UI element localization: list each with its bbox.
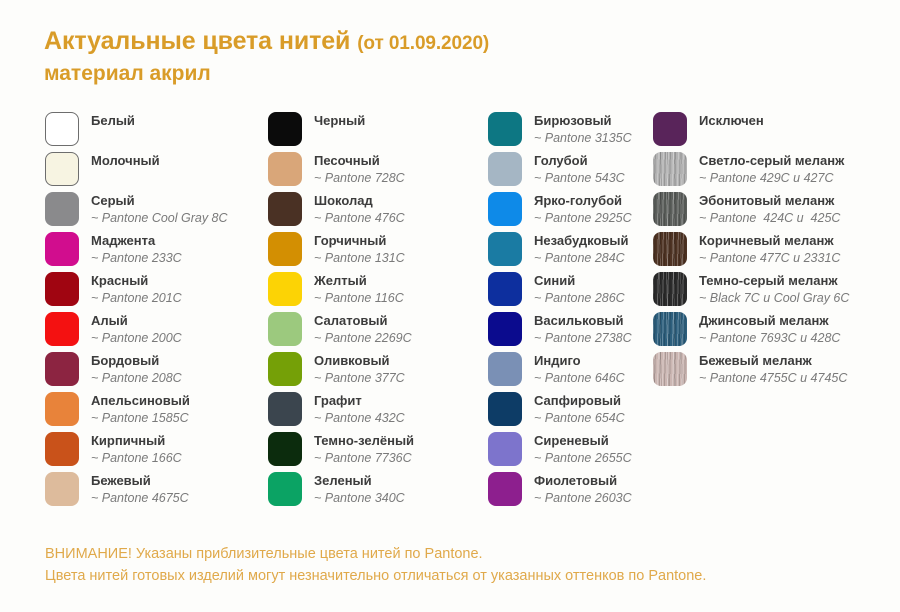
- color-row: Темно-серый меланж~ Black 7C и Cool Gray…: [653, 272, 893, 312]
- color-pantone-code: ~ Pantone 1585C: [91, 410, 190, 426]
- color-name: Красный: [91, 273, 182, 289]
- color-swatch: [268, 152, 302, 186]
- page-header: Актуальные цвета нитей (от 01.09.2020) м…: [44, 26, 864, 87]
- color-swatch: [653, 112, 687, 146]
- page-title: Актуальные цвета нитей (от 01.09.2020): [44, 26, 864, 59]
- color-name: Ярко-голубой: [534, 193, 632, 209]
- color-name: Темно-серый меланж: [699, 273, 849, 289]
- color-labels: Васильковый~ Pantone 2738C: [534, 312, 632, 346]
- color-name: Сапфировый: [534, 393, 625, 409]
- color-column-1: БелыйМолочныйСерый~ Pantone Cool Gray 8C…: [45, 112, 270, 512]
- color-swatch: [45, 272, 79, 306]
- color-labels: Исключен: [699, 112, 764, 129]
- color-swatch: [653, 352, 687, 386]
- color-pantone-code: ~ Pantone 4675C: [91, 490, 189, 506]
- color-swatch: [653, 232, 687, 266]
- color-row: Зеленый~ Pantone 340C: [268, 472, 490, 512]
- color-labels: Ярко-голубой~ Pantone 2925C: [534, 192, 632, 226]
- color-labels: Шоколад~ Pantone 476C: [314, 192, 405, 226]
- color-swatch: [268, 272, 302, 306]
- color-name: Васильковый: [534, 313, 632, 329]
- color-row: Красный~ Pantone 201C: [45, 272, 270, 312]
- color-row: Маджента~ Pantone 233C: [45, 232, 270, 272]
- color-name: Желтый: [314, 273, 404, 289]
- color-column-4: ИсключенСветло-серый меланж~ Pantone 429…: [653, 112, 893, 392]
- color-pantone-code: ~ Pantone 208C: [91, 370, 182, 386]
- color-pantone-code: ~ Pantone 4755C и 4745C: [699, 370, 847, 386]
- color-name: Серый: [91, 193, 228, 209]
- color-name: Сиреневый: [534, 433, 632, 449]
- color-labels: Песочный~ Pantone 728C: [314, 152, 405, 186]
- color-chart-page: Актуальные цвета нитей (от 01.09.2020) м…: [0, 0, 900, 612]
- color-labels: Алый~ Pantone 200C: [91, 312, 182, 346]
- color-columns: БелыйМолочныйСерый~ Pantone Cool Gray 8C…: [0, 112, 900, 532]
- color-swatch: [488, 112, 522, 146]
- color-name: Бежевый меланж: [699, 353, 847, 369]
- color-name: Коричневый меланж: [699, 233, 840, 249]
- color-swatch: [488, 312, 522, 346]
- color-pantone-code: ~ Pantone 477C и 2331C: [699, 250, 840, 266]
- color-labels: Джинсовый меланж~ Pantone 7693C и 428C: [699, 312, 840, 346]
- color-row: Светло-серый меланж~ Pantone 429C и 427C: [653, 152, 893, 192]
- color-row: Эбонитовый меланж~ Pantone 424C и 425C: [653, 192, 893, 232]
- color-pantone-code: ~ Pantone 7693C и 428C: [699, 330, 840, 346]
- color-name: Шоколад: [314, 193, 405, 209]
- color-name: Бирюзовый: [534, 113, 632, 129]
- color-labels: Апельсиновый~ Pantone 1585C: [91, 392, 190, 426]
- color-row: Джинсовый меланж~ Pantone 7693C и 428C: [653, 312, 893, 352]
- color-swatch: [45, 112, 79, 146]
- color-name: Оливковый: [314, 353, 405, 369]
- color-pantone-code: ~ Pantone 7736C: [314, 450, 414, 466]
- disclaimer-line-2: Цвета нитей готовых изделий могут незнач…: [45, 565, 865, 587]
- color-labels: Синий~ Pantone 286C: [534, 272, 625, 306]
- color-pantone-code: ~ Pantone 654C: [534, 410, 625, 426]
- color-labels: Белый: [91, 112, 135, 129]
- color-row: Серый~ Pantone Cool Gray 8C: [45, 192, 270, 232]
- color-row: Синий~ Pantone 286C: [488, 272, 658, 312]
- color-row: Индиго~ Pantone 646C: [488, 352, 658, 392]
- color-pantone-code: ~ Pantone 424C и 425C: [699, 210, 840, 226]
- color-labels: Сиреневый~ Pantone 2655C: [534, 432, 632, 466]
- color-swatch: [45, 392, 79, 426]
- color-swatch: [45, 352, 79, 386]
- color-pantone-code: ~ Pantone 166C: [91, 450, 182, 466]
- color-labels: Темно-серый меланж~ Black 7C и Cool Gray…: [699, 272, 849, 306]
- color-labels: Графит~ Pantone 432C: [314, 392, 405, 426]
- color-pantone-code: ~ Pantone 2603C: [534, 490, 632, 506]
- color-row: Желтый~ Pantone 116C: [268, 272, 490, 312]
- color-row: Голубой~ Pantone 543C: [488, 152, 658, 192]
- color-row: Ярко-голубой~ Pantone 2925C: [488, 192, 658, 232]
- color-name: Бежевый: [91, 473, 189, 489]
- color-row: Графит~ Pantone 432C: [268, 392, 490, 432]
- color-labels: Бирюзовый~ Pantone 3135C: [534, 112, 632, 146]
- color-row: Шоколад~ Pantone 476C: [268, 192, 490, 232]
- page-title-main: Актуальные цвета нитей: [44, 27, 350, 55]
- color-pantone-code: ~ Pantone 340C: [314, 490, 405, 506]
- color-row: Оливковый~ Pantone 377C: [268, 352, 490, 392]
- color-swatch: [488, 472, 522, 506]
- color-pantone-code: ~ Pantone 3135C: [534, 130, 632, 146]
- disclaimer-note: ВНИМАНИЕ! Указаны приблизительные цвета …: [45, 543, 865, 587]
- color-labels: Серый~ Pantone Cool Gray 8C: [91, 192, 228, 226]
- color-labels: Коричневый меланж~ Pantone 477C и 2331C: [699, 232, 840, 266]
- color-pantone-code: ~ Pantone 432C: [314, 410, 405, 426]
- color-labels: Бордовый~ Pantone 208C: [91, 352, 182, 386]
- color-pantone-code: ~ Pantone 201C: [91, 290, 182, 306]
- color-row: Незабудковый~ Pantone 284C: [488, 232, 658, 272]
- color-row: Васильковый~ Pantone 2738C: [488, 312, 658, 352]
- color-swatch: [488, 352, 522, 386]
- color-column-2: ЧерныйПесочный~ Pantone 728CШоколад~ Pan…: [268, 112, 490, 512]
- color-name: Исключен: [699, 113, 764, 129]
- color-row: Бордовый~ Pantone 208C: [45, 352, 270, 392]
- color-pantone-code: ~ Pantone 2925C: [534, 210, 632, 226]
- color-row: Коричневый меланж~ Pantone 477C и 2331C: [653, 232, 893, 272]
- color-pantone-code: ~ Pantone 284C: [534, 250, 629, 266]
- color-labels: Бежевый меланж~ Pantone 4755C и 4745C: [699, 352, 847, 386]
- color-name: Темно-зелёный: [314, 433, 414, 449]
- color-swatch: [268, 112, 302, 146]
- color-labels: Молочный: [91, 152, 160, 169]
- color-name: Маджента: [91, 233, 182, 249]
- color-pantone-code: ~ Pantone 646C: [534, 370, 625, 386]
- color-name: Бордовый: [91, 353, 182, 369]
- color-swatch: [488, 272, 522, 306]
- color-row: Горчичный~ Pantone 131C: [268, 232, 490, 272]
- color-swatch: [653, 192, 687, 226]
- color-labels: Черный: [314, 112, 365, 129]
- color-labels: Индиго~ Pantone 646C: [534, 352, 625, 386]
- color-swatch: [268, 432, 302, 466]
- color-name: Индиго: [534, 353, 625, 369]
- color-swatch: [268, 352, 302, 386]
- color-row: Салатовый~ Pantone 2269C: [268, 312, 490, 352]
- color-name: Белый: [91, 113, 135, 129]
- color-swatch: [488, 432, 522, 466]
- color-pantone-code: ~ Pantone 200C: [91, 330, 182, 346]
- color-name: Апельсиновый: [91, 393, 190, 409]
- color-labels: Темно-зелёный~ Pantone 7736C: [314, 432, 414, 466]
- color-pantone-code: ~ Pantone 286C: [534, 290, 625, 306]
- color-swatch: [488, 192, 522, 226]
- color-pantone-code: ~ Pantone 131C: [314, 250, 405, 266]
- color-pantone-code: ~ Pantone 2738C: [534, 330, 632, 346]
- color-labels: Эбонитовый меланж~ Pantone 424C и 425C: [699, 192, 840, 226]
- page-title-date: (от 01.09.2020): [357, 33, 489, 54]
- color-swatch: [268, 232, 302, 266]
- color-labels: Горчичный~ Pantone 131C: [314, 232, 405, 266]
- color-row: Песочный~ Pantone 728C: [268, 152, 490, 192]
- color-swatch: [45, 312, 79, 346]
- color-labels: Бежевый~ Pantone 4675C: [91, 472, 189, 506]
- color-labels: Кирпичный~ Pantone 166C: [91, 432, 182, 466]
- color-row: Бежевый~ Pantone 4675C: [45, 472, 270, 512]
- color-name: Песочный: [314, 153, 405, 169]
- color-name: Эбонитовый меланж: [699, 193, 840, 209]
- color-swatch: [45, 152, 79, 186]
- color-row: Молочный: [45, 152, 270, 192]
- color-name: Молочный: [91, 153, 160, 169]
- color-row: Белый: [45, 112, 270, 152]
- color-name: Зеленый: [314, 473, 405, 489]
- color-labels: Оливковый~ Pantone 377C: [314, 352, 405, 386]
- color-name: Горчичный: [314, 233, 405, 249]
- color-swatch: [653, 152, 687, 186]
- color-name: Синий: [534, 273, 625, 289]
- color-swatch: [45, 472, 79, 506]
- color-name: Голубой: [534, 153, 625, 169]
- color-swatch: [45, 192, 79, 226]
- color-column-3: Бирюзовый~ Pantone 3135CГолубой~ Pantone…: [488, 112, 658, 512]
- color-name: Джинсовый меланж: [699, 313, 840, 329]
- color-labels: Фиолетовый~ Pantone 2603C: [534, 472, 632, 506]
- color-labels: Светло-серый меланж~ Pantone 429C и 427C: [699, 152, 844, 186]
- color-row: Черный: [268, 112, 490, 152]
- color-pantone-code: ~ Black 7C и Cool Gray 6C: [699, 290, 849, 306]
- color-swatch: [45, 232, 79, 266]
- page-subtitle: материал акрил: [44, 60, 864, 87]
- color-swatch: [653, 272, 687, 306]
- color-row: Сапфировый~ Pantone 654C: [488, 392, 658, 432]
- color-pantone-code: ~ Pantone 2269C: [314, 330, 412, 346]
- color-row: Сиреневый~ Pantone 2655C: [488, 432, 658, 472]
- color-name: Черный: [314, 113, 365, 129]
- color-pantone-code: ~ Pantone 543C: [534, 170, 625, 186]
- color-name: Светло-серый меланж: [699, 153, 844, 169]
- color-row: Апельсиновый~ Pantone 1585C: [45, 392, 270, 432]
- color-row: Бирюзовый~ Pantone 3135C: [488, 112, 658, 152]
- color-name: Незабудковый: [534, 233, 629, 249]
- color-pantone-code: ~ Pantone 476C: [314, 210, 405, 226]
- disclaimer-line-1: ВНИМАНИЕ! Указаны приблизительные цвета …: [45, 543, 865, 565]
- color-pantone-code: ~ Pantone 233C: [91, 250, 182, 266]
- color-labels: Желтый~ Pantone 116C: [314, 272, 404, 306]
- color-pantone-code: ~ Pantone 116C: [314, 290, 404, 306]
- color-swatch: [653, 312, 687, 346]
- color-labels: Зеленый~ Pantone 340C: [314, 472, 405, 506]
- color-swatch: [488, 152, 522, 186]
- color-name: Графит: [314, 393, 405, 409]
- color-swatch: [488, 232, 522, 266]
- color-row: Темно-зелёный~ Pantone 7736C: [268, 432, 490, 472]
- color-labels: Маджента~ Pantone 233C: [91, 232, 182, 266]
- color-pantone-code: ~ Pantone 429C и 427C: [699, 170, 844, 186]
- color-name: Кирпичный: [91, 433, 182, 449]
- color-row: Исключен: [653, 112, 893, 152]
- color-row: Алый~ Pantone 200C: [45, 312, 270, 352]
- color-swatch: [268, 312, 302, 346]
- color-row: Кирпичный~ Pantone 166C: [45, 432, 270, 472]
- color-labels: Красный~ Pantone 201C: [91, 272, 182, 306]
- color-labels: Салатовый~ Pantone 2269C: [314, 312, 412, 346]
- color-row: Фиолетовый~ Pantone 2603C: [488, 472, 658, 512]
- color-pantone-code: ~ Pantone 2655C: [534, 450, 632, 466]
- color-labels: Голубой~ Pantone 543C: [534, 152, 625, 186]
- color-swatch: [45, 432, 79, 466]
- color-swatch: [488, 392, 522, 426]
- color-swatch: [268, 472, 302, 506]
- color-row: Бежевый меланж~ Pantone 4755C и 4745C: [653, 352, 893, 392]
- color-labels: Незабудковый~ Pantone 284C: [534, 232, 629, 266]
- color-labels: Сапфировый~ Pantone 654C: [534, 392, 625, 426]
- color-name: Алый: [91, 313, 182, 329]
- color-swatch: [268, 392, 302, 426]
- color-name: Фиолетовый: [534, 473, 632, 489]
- color-pantone-code: ~ Pantone 377C: [314, 370, 405, 386]
- color-pantone-code: ~ Pantone Cool Gray 8C: [91, 210, 228, 226]
- color-pantone-code: ~ Pantone 728C: [314, 170, 405, 186]
- color-name: Салатовый: [314, 313, 412, 329]
- color-swatch: [268, 192, 302, 226]
